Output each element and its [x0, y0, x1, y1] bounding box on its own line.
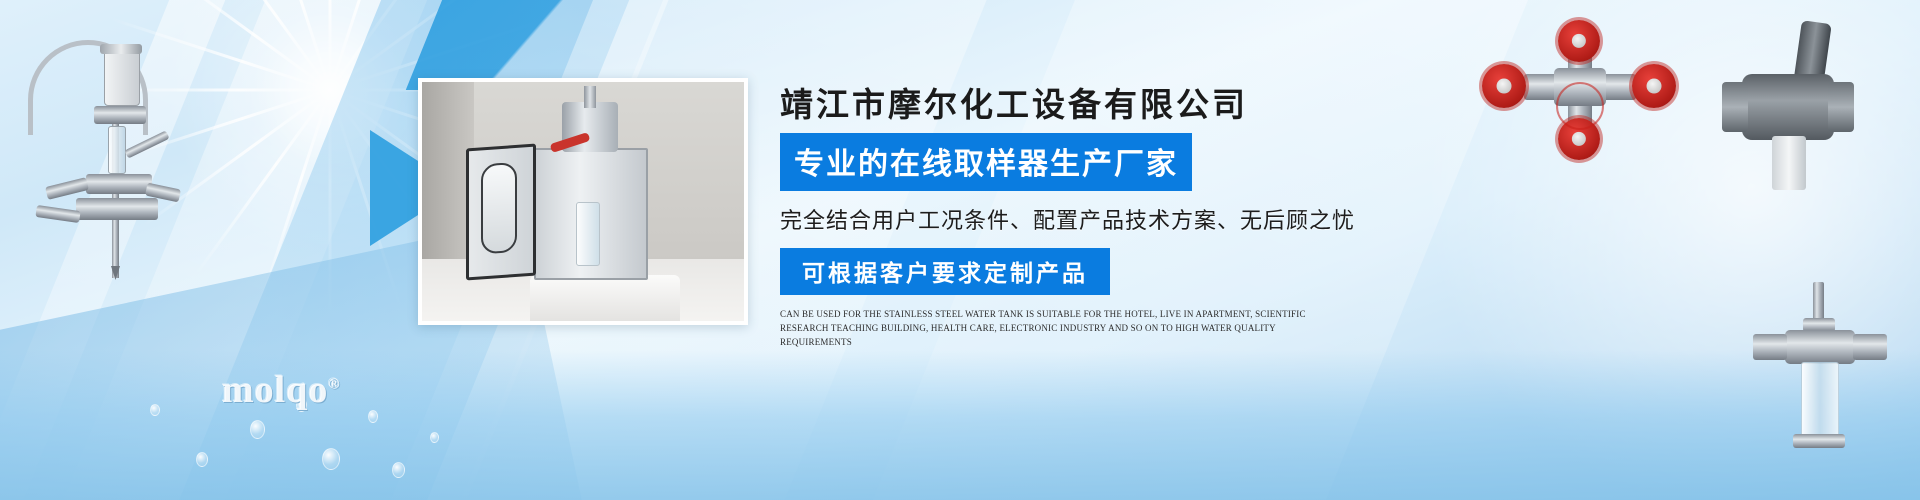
valve-flange-right — [1828, 82, 1854, 132]
sample-bottle — [576, 202, 600, 266]
photo-pedestal — [530, 275, 680, 321]
water-droplet — [430, 432, 439, 443]
right-stainless-sampler — [1745, 282, 1895, 452]
cylinder-housing — [104, 50, 140, 106]
logo-wordmark: molqo — [222, 369, 328, 411]
water-droplet — [392, 462, 405, 478]
cylinder-cap — [100, 44, 142, 54]
red-handwheel-top — [1558, 20, 1600, 62]
water-droplet — [368, 410, 378, 423]
water-droplet — [322, 448, 340, 470]
valve-stem — [584, 86, 596, 108]
valve-lower-spout — [1772, 136, 1806, 190]
promotional-banner: 靖江市摩尔化工设备有限公司 专业的在线取样器生产厂家 完全结合用户工况条件、配置… — [0, 0, 1920, 500]
water-droplet — [150, 404, 160, 416]
cabinet-window — [481, 162, 517, 255]
cabinet-door — [466, 144, 536, 281]
english-description: CAN BE USED FOR THE STAINLESS STEEL WATE… — [780, 307, 1342, 349]
brand-watermark-logo: molqo® — [222, 368, 341, 412]
company-seal-stamp — [1556, 82, 1604, 130]
water-droplet — [250, 420, 265, 439]
secondary-slogan: 完全结合用户工况条件、配置产品技术方案、无后顾之忧 — [780, 203, 1400, 235]
left-equipment-illustration — [20, 28, 180, 278]
valve-lever-handle — [1794, 20, 1832, 80]
right-valve-manifold — [1480, 30, 1680, 150]
product-photo — [418, 78, 748, 325]
side-fitting-left — [45, 177, 89, 200]
valve-block-lower — [76, 198, 158, 220]
sight-glass — [108, 126, 126, 174]
valve-main-body — [1742, 74, 1834, 140]
water-droplet — [196, 452, 208, 467]
sampler-base — [1793, 434, 1845, 448]
valve-block-mid — [86, 174, 152, 194]
right-valve-body — [1720, 22, 1860, 202]
sampler-cabinet — [534, 148, 648, 280]
valve-block-upper — [94, 106, 146, 124]
red-handwheel-left — [1482, 64, 1526, 108]
red-handwheel-right — [1632, 64, 1676, 108]
headline-text-block: 靖江市摩尔化工设备有限公司 专业的在线取样器生产厂家 完全结合用户工况条件、配置… — [780, 78, 1400, 349]
blue-wedge-accent — [406, 0, 774, 90]
company-name: 靖江市摩尔化工设备有限公司 — [780, 78, 1400, 126]
logo-trademark-symbol: ® — [328, 376, 340, 392]
side-fitting-lower — [35, 205, 80, 223]
primary-slogan-highlight: 专业的在线取样器生产厂家 — [780, 133, 1192, 191]
sampler-flange-left — [1753, 334, 1787, 360]
sampler-body — [1785, 330, 1855, 364]
sampler-flange-right — [1853, 334, 1887, 360]
sampler-glass-tube — [1801, 362, 1839, 442]
customization-slogan-highlight: 可根据客户要求定制产品 — [780, 248, 1110, 295]
valve-flange-left — [1722, 82, 1748, 132]
